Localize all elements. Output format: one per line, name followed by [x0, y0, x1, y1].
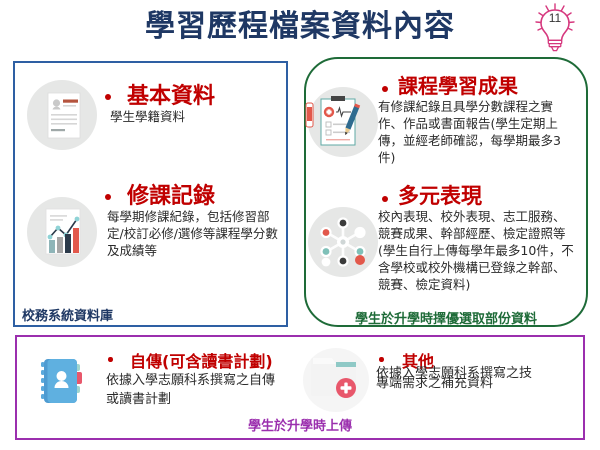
resume-document-icon [27, 80, 97, 150]
badge-number: 11 [531, 11, 579, 25]
bullet-dot [382, 196, 388, 202]
item-heading: 修課記錄 [127, 178, 215, 210]
item-heading: 自傳(可含讀書計劃) [130, 348, 273, 372]
item-heading: 多元表現 [398, 180, 482, 210]
network-dots-icon [308, 207, 378, 277]
clipboard-checklist-pen-icon [308, 87, 378, 157]
address-book-icon [33, 348, 95, 410]
panel-footer-upload-on-admission: 學生於升學時上傳 [15, 415, 585, 434]
bullet-dot [379, 357, 384, 362]
item-body-line2: 專端需求之補充資料 [376, 377, 586, 391]
item-body: 學生學籍資料 [110, 108, 275, 125]
panel-footer-student-selected: 學生於升學時擇優選取部份資料 [312, 308, 580, 327]
item-body: 每學期修課紀錄，包括修習部定/校訂必修/選修等課程學分數及成績等 [107, 208, 279, 259]
panel-footer-school-system: 校務系統資料庫 [22, 305, 113, 324]
title-row: 學習歷程檔案資料內容 11 [0, 2, 600, 54]
item-body: 有修課紀錄且具學分數課程之實作、作品或書面報告(學生定期上傳，並經老師確認，每學… [378, 98, 574, 166]
item-heading: 基本資料 [127, 78, 215, 110]
bullet-dot [105, 94, 111, 100]
bullet-dot [108, 357, 113, 362]
item-heading: 課程學習成果 [398, 70, 518, 99]
slide-root: 學習歷程檔案資料內容 11 [0, 0, 600, 450]
bullet-dot [105, 194, 111, 200]
folder-add-icon [303, 348, 373, 414]
bar-chart-document-icon [27, 197, 97, 267]
lightbulb-icon: 11 [531, 3, 579, 53]
page-title: 學習歷程檔案資料內容 [100, 6, 500, 48]
item-body: 校內表現、校外表現、志工服務、競賽成果、幹部經歷、檢定證照等(學生自行上傳每學年… [378, 208, 576, 293]
item-body: 依據入學志願科系撰寫之自傳或讀書計劃 [106, 371, 281, 409]
bullet-dot [382, 86, 388, 92]
